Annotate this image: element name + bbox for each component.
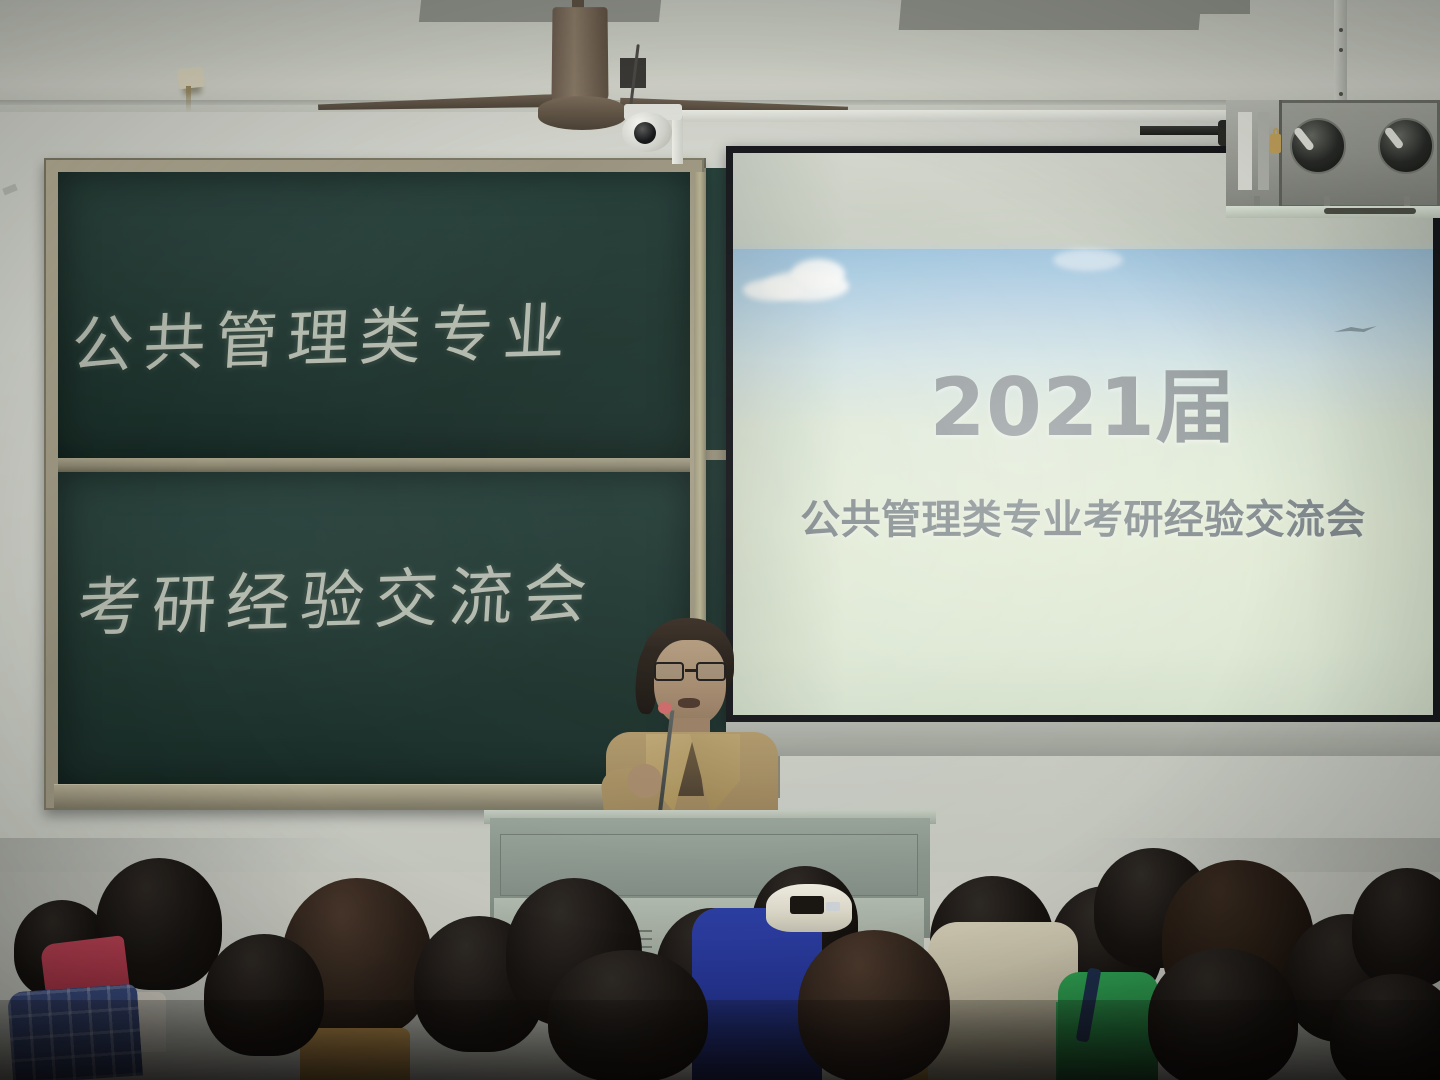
chalk-text-line-2: 考研经验交流会	[75, 543, 600, 650]
audience-head	[1352, 868, 1440, 988]
cloud-shape	[1053, 249, 1123, 271]
ceiling-panel	[1130, 0, 1250, 14]
cloud-shape	[743, 279, 803, 301]
ceiling-fan-motor	[551, 7, 608, 103]
slide-subtitle: 公共管理类专业考研经验交流会	[733, 487, 1433, 545]
glasses-bridge	[685, 669, 697, 672]
blackboard-divider	[58, 458, 690, 472]
microphone-icon	[658, 702, 672, 714]
ceiling-panel	[419, 0, 661, 22]
padlock-body-icon	[1270, 134, 1281, 153]
glasses-icon	[652, 662, 730, 681]
projector-mount-pole	[1334, 0, 1347, 106]
projector-cage-side	[1226, 100, 1282, 208]
mount-bolt	[1339, 48, 1343, 52]
projector-lens-icon	[1378, 118, 1434, 174]
screen-bottom-bar	[726, 722, 1440, 756]
glasses-lens-left	[654, 662, 684, 681]
projection-screen: 2021届 公共管理类专业考研经验交流会	[726, 146, 1440, 722]
projector-lens-icon	[1290, 118, 1346, 174]
audience-shadow	[0, 1000, 1440, 1080]
slide-title: 2021届	[733, 343, 1433, 459]
cap-strap-opening	[790, 896, 824, 914]
cap-strap-tab	[826, 902, 840, 911]
classroom-photo: 公共管理类专业 考研经验交流会 2021届 公共管理类专业考研经验交流会	[0, 0, 1440, 1080]
camera-lens-icon	[634, 122, 656, 144]
ceiling-conduit-drop	[672, 116, 683, 164]
wall-stain	[177, 67, 205, 90]
cage-vent-slot	[1238, 112, 1252, 190]
wall-stain-drip	[186, 86, 191, 112]
bird-icon	[1333, 325, 1379, 334]
projected-slide: 2021届 公共管理类专业考研经验交流会	[733, 153, 1433, 715]
projector-vent	[1324, 208, 1416, 214]
cage-vent-slot	[1258, 112, 1269, 190]
mount-bolt	[1339, 92, 1343, 96]
mount-bolt	[1339, 28, 1343, 32]
chalk-text-line-1: 公共管理类专业	[69, 281, 578, 385]
presenter-mouth	[678, 698, 700, 708]
glasses-lens-right	[696, 662, 726, 681]
ceiling-fan-hub	[538, 96, 626, 130]
ceiling-conduit	[672, 110, 1232, 122]
